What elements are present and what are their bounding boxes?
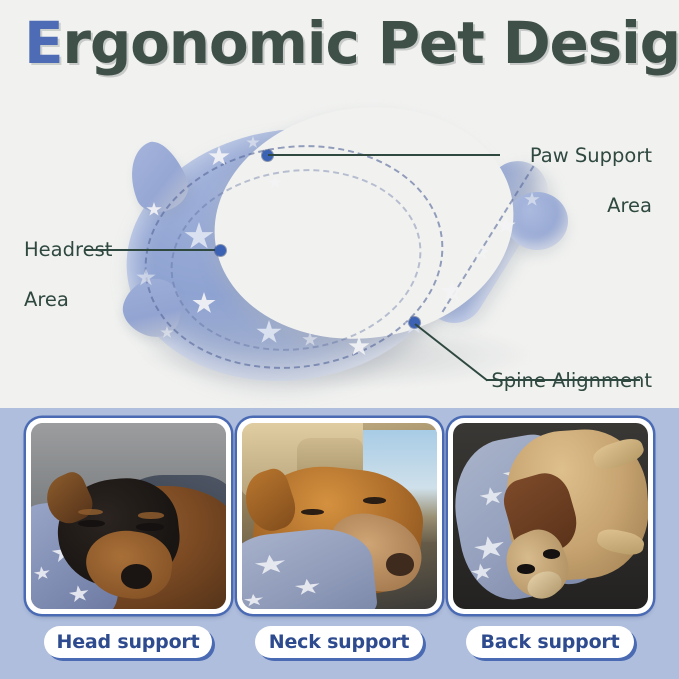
star-print [243, 593, 264, 608]
headrest-leader-line [85, 249, 218, 251]
photo-neck-support [242, 423, 437, 609]
photo1-dog-brow [138, 512, 163, 518]
photo-head-support [31, 423, 226, 609]
callout-paw-support: Paw Support Area [380, 118, 652, 243]
headrest-anchor-dot [215, 245, 226, 256]
star-print [478, 485, 505, 508]
photo1-dog-nose [121, 564, 152, 588]
star-print [472, 533, 507, 562]
photo-card-head-support[interactable] [26, 418, 231, 614]
diagram-panel: Ergonomic Pet Design [0, 0, 679, 408]
photo-back-support [453, 423, 648, 609]
star-print [254, 553, 288, 577]
callout-spine-alignment: Spine Alignment Area [330, 343, 652, 408]
photo-card-neck-support[interactable] [237, 418, 442, 614]
callout-headrest: Headrest Area [24, 212, 204, 337]
photo-card-back-support[interactable] [448, 418, 653, 614]
photo1-dog-brow [78, 509, 103, 515]
caption-back-support-label: Back support [481, 631, 620, 653]
page-title-initial: E [24, 9, 62, 77]
gallery-panel: Head support Neck support Back support [0, 408, 679, 679]
callout-spine-alignment-line1: Spine Alignment [330, 368, 652, 393]
infographic-page: Ergonomic Pet Design [0, 0, 679, 679]
caption-back-support[interactable]: Back support [466, 626, 634, 658]
callout-paw-support-line2: Area [380, 193, 652, 218]
photo-row [0, 418, 679, 618]
photo3-dog-eye [517, 564, 535, 573]
photo1-dog-eye [136, 523, 163, 530]
photo3-dog-eye [543, 549, 561, 558]
callout-paw-support-line1: Paw Support [380, 143, 652, 168]
caption-neck-support-label: Neck support [269, 631, 409, 653]
photo2-dog-eye [301, 509, 324, 516]
caption-neck-support[interactable]: Neck support [255, 626, 423, 658]
photo2-dog-nose [386, 553, 413, 575]
star-print [294, 577, 322, 596]
photo1-dog-eye [78, 520, 105, 527]
caption-head-support-label: Head support [57, 631, 200, 653]
caption-head-support[interactable]: Head support [44, 626, 212, 658]
star-print [33, 565, 52, 581]
page-title-rest: rgonomic Pet Design [62, 9, 679, 77]
star-print [68, 584, 91, 605]
page-title: Ergonomic Pet Design [24, 12, 679, 74]
callout-headrest-line2: Area [24, 287, 204, 312]
